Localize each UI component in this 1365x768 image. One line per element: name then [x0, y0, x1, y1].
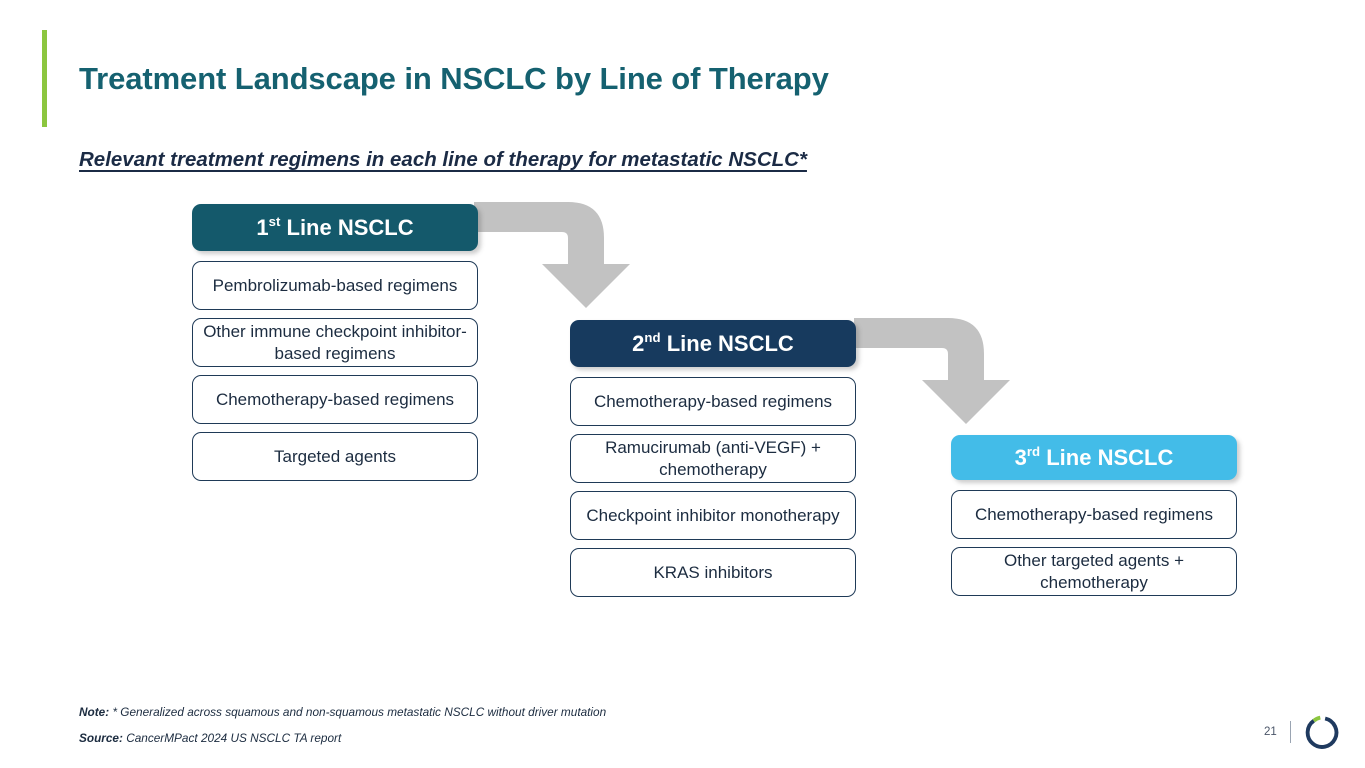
treatment-item[interactable]: KRAS inhibitors: [570, 548, 856, 597]
treatment-item[interactable]: Ramucirumab (anti-VEGF) + chemotherapy: [570, 434, 856, 483]
treatment-item[interactable]: Chemotherapy-based regimens: [951, 490, 1237, 539]
header-main-label: Line NSCLC: [287, 215, 414, 241]
title-accent-bar: [42, 30, 47, 127]
footnote-source-label: Source:: [79, 731, 123, 745]
treatment-item-label: KRAS inhibitors: [653, 562, 772, 583]
footnote-note: Note: * Generalized across squamous and …: [79, 705, 606, 719]
treatment-item-label: Other targeted agents + chemotherapy: [960, 550, 1228, 593]
header-ordinal-suffix: st: [269, 214, 281, 229]
header-ordinal-number: 1: [256, 215, 268, 241]
treatment-item-label: Chemotherapy-based regimens: [594, 391, 832, 412]
treatment-item[interactable]: Pembrolizumab-based regimens: [192, 261, 478, 310]
page-number: 21: [1264, 726, 1277, 738]
footnote-source: Source: CancerMPact 2024 US NSCLC TA rep…: [79, 731, 341, 745]
header-ordinal-number: 3: [1015, 445, 1027, 471]
footnote-source-text: CancerMPact 2024 US NSCLC TA report: [126, 731, 341, 745]
treatment-item-label: Ramucirumab (anti-VEGF) + chemotherapy: [579, 437, 847, 480]
treatment-item-label: Targeted agents: [274, 446, 396, 467]
treatment-item-label: Other immune checkpoint inhibitor-based …: [201, 321, 469, 364]
header-main-label: Line NSCLC: [667, 331, 794, 357]
footnote-note-label: Note:: [79, 705, 109, 719]
treatment-item[interactable]: Chemotherapy-based regimens: [570, 377, 856, 426]
page-title: Treatment Landscape in NSCLC by Line of …: [79, 61, 829, 97]
treatment-item[interactable]: Chemotherapy-based regimens: [192, 375, 478, 424]
treatment-item-label: Checkpoint inhibitor monotherapy: [586, 505, 839, 526]
treatment-item[interactable]: Checkpoint inhibitor monotherapy: [570, 491, 856, 540]
column-first-line: 1stLine NSCLC Pembrolizumab-based regime…: [192, 204, 478, 481]
treatment-item-label: Chemotherapy-based regimens: [975, 504, 1213, 525]
header-ordinal-suffix: nd: [644, 330, 660, 345]
column-header-third-line[interactable]: 3rdLine NSCLC: [951, 435, 1237, 480]
footnote-note-text: * Generalized across squamous and non-sq…: [112, 705, 606, 719]
slide-canvas: Treatment Landscape in NSCLC by Line of …: [0, 0, 1365, 768]
arrow-second-to-third: [850, 314, 1020, 429]
column-header-second-line[interactable]: 2ndLine NSCLC: [570, 320, 856, 367]
brand-logo-icon: [1303, 714, 1339, 750]
treatment-item[interactable]: Other targeted agents + chemotherapy: [951, 547, 1237, 596]
footer-divider: [1290, 721, 1291, 743]
arrow-first-to-second: [470, 198, 640, 313]
treatment-item[interactable]: Targeted agents: [192, 432, 478, 481]
column-second-line: 2ndLine NSCLC Chemotherapy-based regimen…: [570, 320, 856, 597]
page-subtitle: Relevant treatment regimens in each line…: [79, 148, 807, 172]
column-header-first-line[interactable]: 1stLine NSCLC: [192, 204, 478, 251]
column-third-line: 3rdLine NSCLC Chemotherapy-based regimen…: [951, 435, 1237, 596]
header-ordinal-suffix: rd: [1027, 444, 1040, 459]
treatment-item-label: Pembrolizumab-based regimens: [213, 275, 458, 296]
treatment-item-label: Chemotherapy-based regimens: [216, 389, 454, 410]
header-main-label: Line NSCLC: [1046, 445, 1173, 471]
header-ordinal-number: 2: [632, 331, 644, 357]
treatment-item[interactable]: Other immune checkpoint inhibitor-based …: [192, 318, 478, 367]
